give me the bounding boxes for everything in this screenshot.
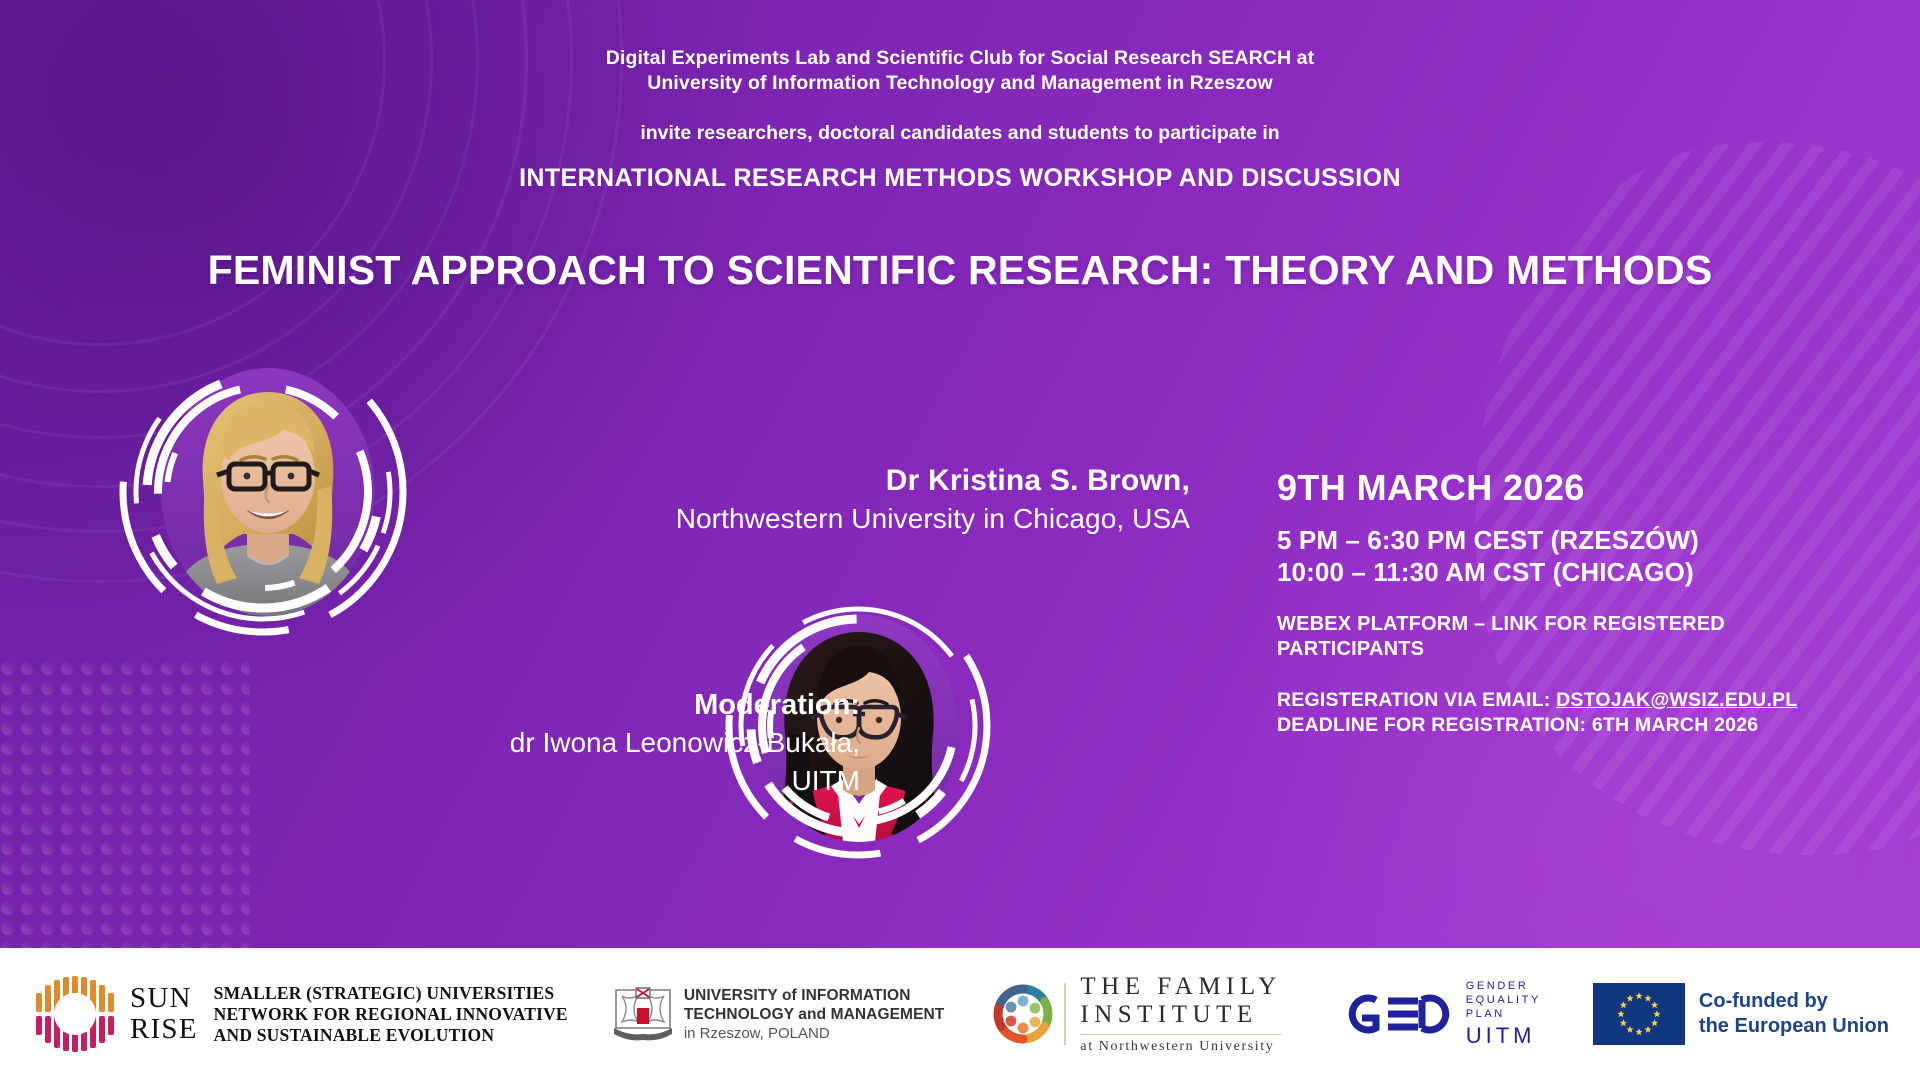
- registration-line: REGISTERATION VIA EMAIL: DSTOJAK@WSIZ.ED…: [1277, 688, 1877, 713]
- sunrise-mark-icon: [30, 971, 122, 1057]
- event-type-line: INTERNATIONAL RESEARCH METHODS WORKSHOP …: [0, 164, 1920, 193]
- event-times: 5 PM – 6:30 PM CEST (RZESZÓW) 10:00 – 11…: [1277, 524, 1877, 588]
- sunrise-word-line-2: RISE: [130, 1014, 198, 1045]
- speaker-ring-decoration: [118, 347, 408, 637]
- poster-background: Digital Experiments Lab and Scientific C…: [0, 0, 1920, 948]
- footer-logo-bar: SUN RISE SMALLER (STRATEGIC) UNIVERSITIE…: [0, 948, 1920, 1080]
- header-spacer: [0, 96, 1920, 120]
- sunrise-word-line-1: SUN: [130, 983, 198, 1014]
- platform-line-2: PARTICIPANTS: [1277, 637, 1877, 662]
- family-institute-divider: [1064, 983, 1066, 1045]
- logo-uitm: UNIVERSITY of INFORMATION TECHNOLOGY and…: [612, 982, 945, 1046]
- uitm-wordmark: UNIVERSITY of INFORMATION TECHNOLOGY and…: [684, 986, 945, 1043]
- registration-prefix: REGISTERATION VIA EMAIL:: [1277, 689, 1556, 711]
- eu-flag-icon: [1593, 983, 1685, 1045]
- family-institute-circle-icon: [992, 983, 1054, 1045]
- poster-main-title: FEMINIST APPROACH TO SCIENTIFIC RESEARCH…: [70, 246, 1850, 294]
- uitm-line-1: UNIVERSITY of INFORMATION: [684, 986, 945, 1005]
- logo-sunrise: SUN RISE SMALLER (STRATEGIC) UNIVERSITIE…: [30, 971, 568, 1057]
- gep-wordmark: GENDER EQUALITY PLAN UITM: [1466, 979, 1541, 1049]
- moderator-name-line-1: dr Iwona Leonowicz-Bukała,: [230, 724, 860, 762]
- organizer-line-2: University of Information Technology and…: [0, 71, 1920, 96]
- gep-mark-icon: [1336, 990, 1454, 1038]
- organizer-line-1: Digital Experiments Lab and Scientific C…: [0, 46, 1920, 71]
- event-date: 9TH MARCH 2026: [1277, 466, 1877, 510]
- family-institute-rule: [1080, 1034, 1281, 1035]
- platform-line-1: WEBEX PLATFORM – LINK FOR REGISTERED: [1277, 612, 1877, 637]
- logo-european-union: Co-funded by the European Union: [1593, 983, 1889, 1045]
- event-platform: WEBEX PLATFORM – LINK FOR REGISTERED PAR…: [1277, 612, 1877, 662]
- registration-info: REGISTERATION VIA EMAIL: DSTOJAK@WSIZ.ED…: [1277, 688, 1877, 738]
- moderator-name-line-2: UITM: [230, 762, 860, 800]
- family-institute-wordmark: THE FAMILY INSTITUTE at Northwestern Uni…: [1080, 973, 1281, 1055]
- invite-line: invite researchers, doctoral candidates …: [0, 120, 1920, 146]
- gep-org: UITM: [1466, 1023, 1541, 1049]
- eu-funding-text: Co-funded by the European Union: [1699, 989, 1889, 1039]
- speaker-name: Dr Kristina S. Brown,: [430, 462, 1190, 500]
- gep-line-1: GENDER: [1466, 979, 1541, 993]
- moderation-caption: Moderation: dr Iwona Leonowicz-Bukała, U…: [230, 686, 860, 800]
- uitm-line-3: in Rzeszow, POLAND: [684, 1024, 945, 1043]
- uitm-crest-icon: [612, 982, 674, 1046]
- event-time-cest: 5 PM – 6:30 PM CEST (RZESZÓW): [1277, 524, 1877, 556]
- sunrise-tagline: SMALLER (STRATEGIC) UNIVERSITIES NETWORK…: [214, 983, 568, 1046]
- gep-line-2: EQUALITY: [1466, 993, 1541, 1007]
- family-institute-line-3: at Northwestern University: [1080, 1039, 1281, 1055]
- speaker-caption: Dr Kristina S. Brown, Northwestern Unive…: [430, 462, 1190, 538]
- logo-gep-uitm: GENDER EQUALITY PLAN UITM: [1336, 979, 1541, 1049]
- event-poster: Digital Experiments Lab and Scientific C…: [0, 0, 1920, 1080]
- registration-deadline: DEADLINE FOR REGISTRATION: 6TH MARCH 202…: [1277, 713, 1877, 738]
- moderation-label: Moderation:: [230, 686, 860, 724]
- event-details-column: 9TH MARCH 2026 5 PM – 6:30 PM CEST (RZES…: [1277, 466, 1877, 738]
- header-text-block: Digital Experiments Lab and Scientific C…: [0, 46, 1920, 193]
- logo-family-institute: THE FAMILY INSTITUTE at Northwestern Uni…: [992, 973, 1281, 1055]
- family-institute-line-1: THE FAMILY: [1080, 973, 1281, 1001]
- uitm-line-2: TECHNOLOGY and MANAGEMENT: [684, 1005, 945, 1024]
- background-halftone-dots-decoration: [0, 660, 250, 948]
- registration-email-link[interactable]: DSTOJAK@WSIZ.EDU.PL: [1556, 689, 1797, 711]
- family-institute-line-2: INSTITUTE: [1080, 1001, 1281, 1029]
- speaker-affiliation: Northwestern University in Chicago, USA: [430, 500, 1190, 538]
- sunrise-wordmark: SUN RISE: [130, 983, 198, 1045]
- event-time-cst: 10:00 – 11:30 AM CST (CHICAGO): [1277, 556, 1877, 588]
- speaker-photo-badge: [118, 347, 408, 637]
- gep-line-3: PLAN: [1466, 1007, 1541, 1021]
